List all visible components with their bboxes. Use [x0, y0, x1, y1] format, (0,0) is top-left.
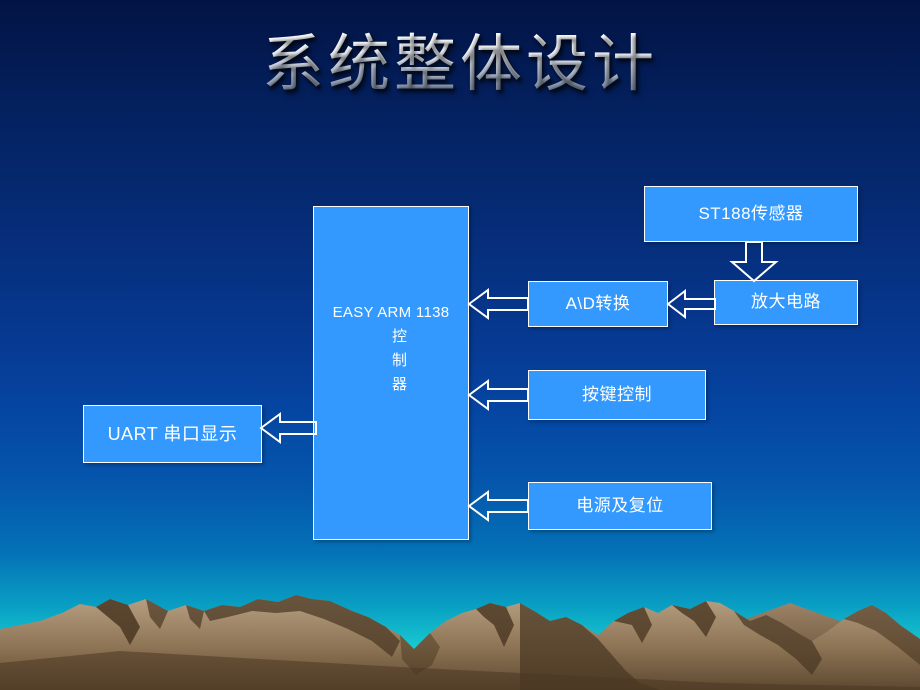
block-controller[interactable]: EASY ARM 1138 控 制 器	[313, 206, 469, 540]
block-st188-sensor[interactable]: ST188传感器	[644, 186, 858, 242]
block-ad-conversion[interactable]: A\D转换	[528, 281, 668, 327]
block-uart-serial-display[interactable]: UART 串口显示	[83, 405, 262, 463]
block-amplifier-circuit[interactable]: 放大电路	[714, 280, 858, 325]
arrow-adc-to-controller-icon	[469, 287, 529, 321]
block-power-and-reset[interactable]: 电源及复位	[528, 482, 712, 530]
controller-label-line3: 制	[392, 353, 408, 368]
block-key-control[interactable]: 按键控制	[528, 370, 706, 420]
controller-label-line2: 控	[392, 329, 408, 344]
slide-title: 系统整体设计	[0, 30, 920, 101]
arrow-amplifier-to-adc-icon	[668, 288, 716, 320]
block-key-control-label: 按键控制	[582, 383, 652, 408]
block-power-and-reset-label: 电源及复位	[576, 494, 664, 519]
controller-label-line4: 器	[392, 377, 408, 392]
arrow-power-reset-to-controller-icon	[469, 489, 529, 523]
arrow-key-control-to-controller-icon	[469, 378, 529, 412]
mountain-range-graphic	[0, 555, 920, 690]
block-st188-sensor-label: ST188传感器	[698, 202, 803, 227]
block-ad-conversion-label: A\D转换	[566, 292, 631, 317]
arrow-st188-to-amplifier-icon	[726, 242, 782, 282]
presentation-slide: 系统整体设计 EASY ARM 1138 控 制 器 ST188传感器 放大电路…	[0, 0, 920, 690]
controller-label-line1: EASY ARM 1138	[333, 305, 450, 320]
arrow-controller-to-uart-icon	[261, 411, 317, 445]
block-amplifier-circuit-label: 放大电路	[751, 290, 821, 315]
block-uart-serial-display-label: UART 串口显示	[108, 421, 238, 447]
